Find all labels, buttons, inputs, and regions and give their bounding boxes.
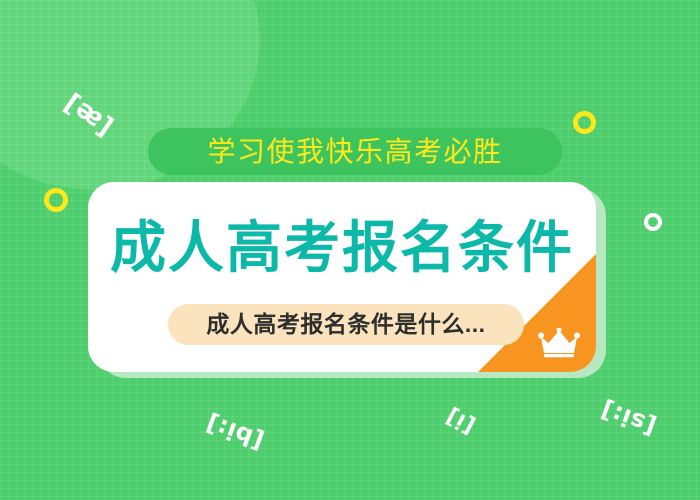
page-title: 成人高考报名条件 [88,220,596,276]
subtitle-pill: 成人高考报名条件是什么... [168,304,524,345]
decor-ring-white-right [644,213,662,231]
crown-icon [538,328,580,358]
decor-ring-yellow-left [44,188,68,212]
subtitle-text: 成人高考报名条件是什么... [206,313,485,336]
decor-ring-yellow-topright [573,111,596,134]
top-banner-text: 学习使我快乐高考必胜 [207,138,502,166]
top-banner: 学习使我快乐高考必胜 [148,128,562,175]
main-card: 成人高考报名条件 成人高考报名条件是什么... [88,182,596,372]
poster-canvas: [æ] [bi:] [i] [si:] 学习使我快乐高考必胜 成人高考报名条件 … [0,0,700,500]
